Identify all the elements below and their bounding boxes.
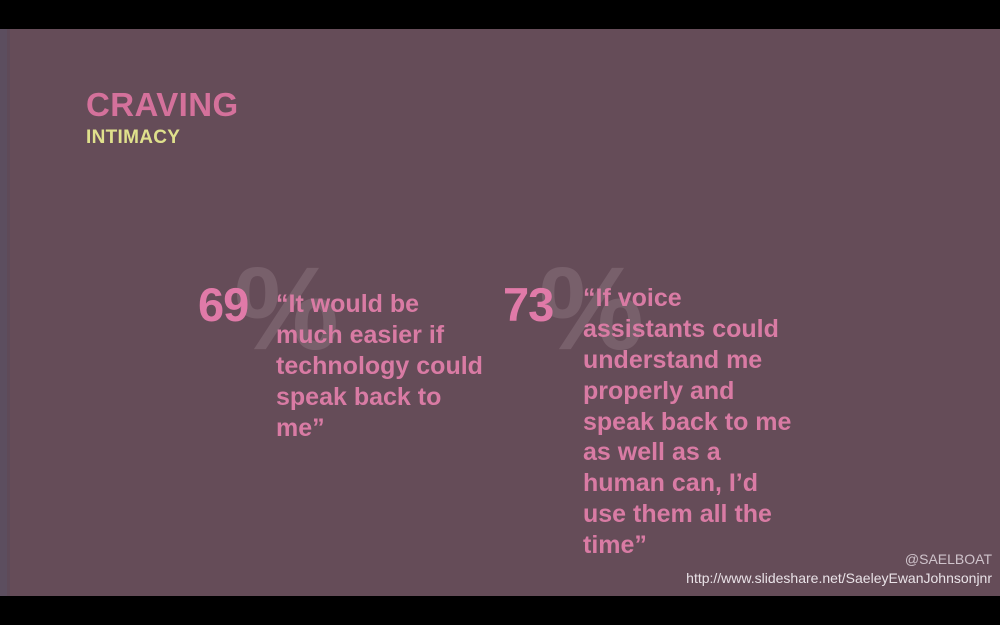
stat-value: 73 [503,281,553,328]
author-handle: @SAELBOAT [686,550,992,569]
page-title: CRAVING [86,88,239,121]
slide-title-block: CRAVING INTIMACY [86,88,239,147]
left-edge-strip-secondary [7,29,10,596]
stat-quote-text: “It would be much easier if technology c… [276,289,492,443]
slideshare-url[interactable]: http://www.slideshare.net/SaeleyEwanJohn… [686,569,992,588]
letterbox-bar-top [0,0,1000,29]
presentation-slide: CRAVING INTIMACY % 69 “It would be much … [0,0,1000,625]
slide-canvas: CRAVING INTIMACY % 69 “It would be much … [0,29,1000,596]
letterbox-bar-bottom [0,596,1000,625]
left-edge-strip [0,29,7,596]
stat-quote-text: “If voice assistants could understand me… [583,283,793,561]
slide-footer-credits: @SAELBOAT http://www.slideshare.net/Sael… [686,550,992,588]
page-subtitle: INTIMACY [86,128,239,147]
stat-value: 69 [198,281,248,328]
